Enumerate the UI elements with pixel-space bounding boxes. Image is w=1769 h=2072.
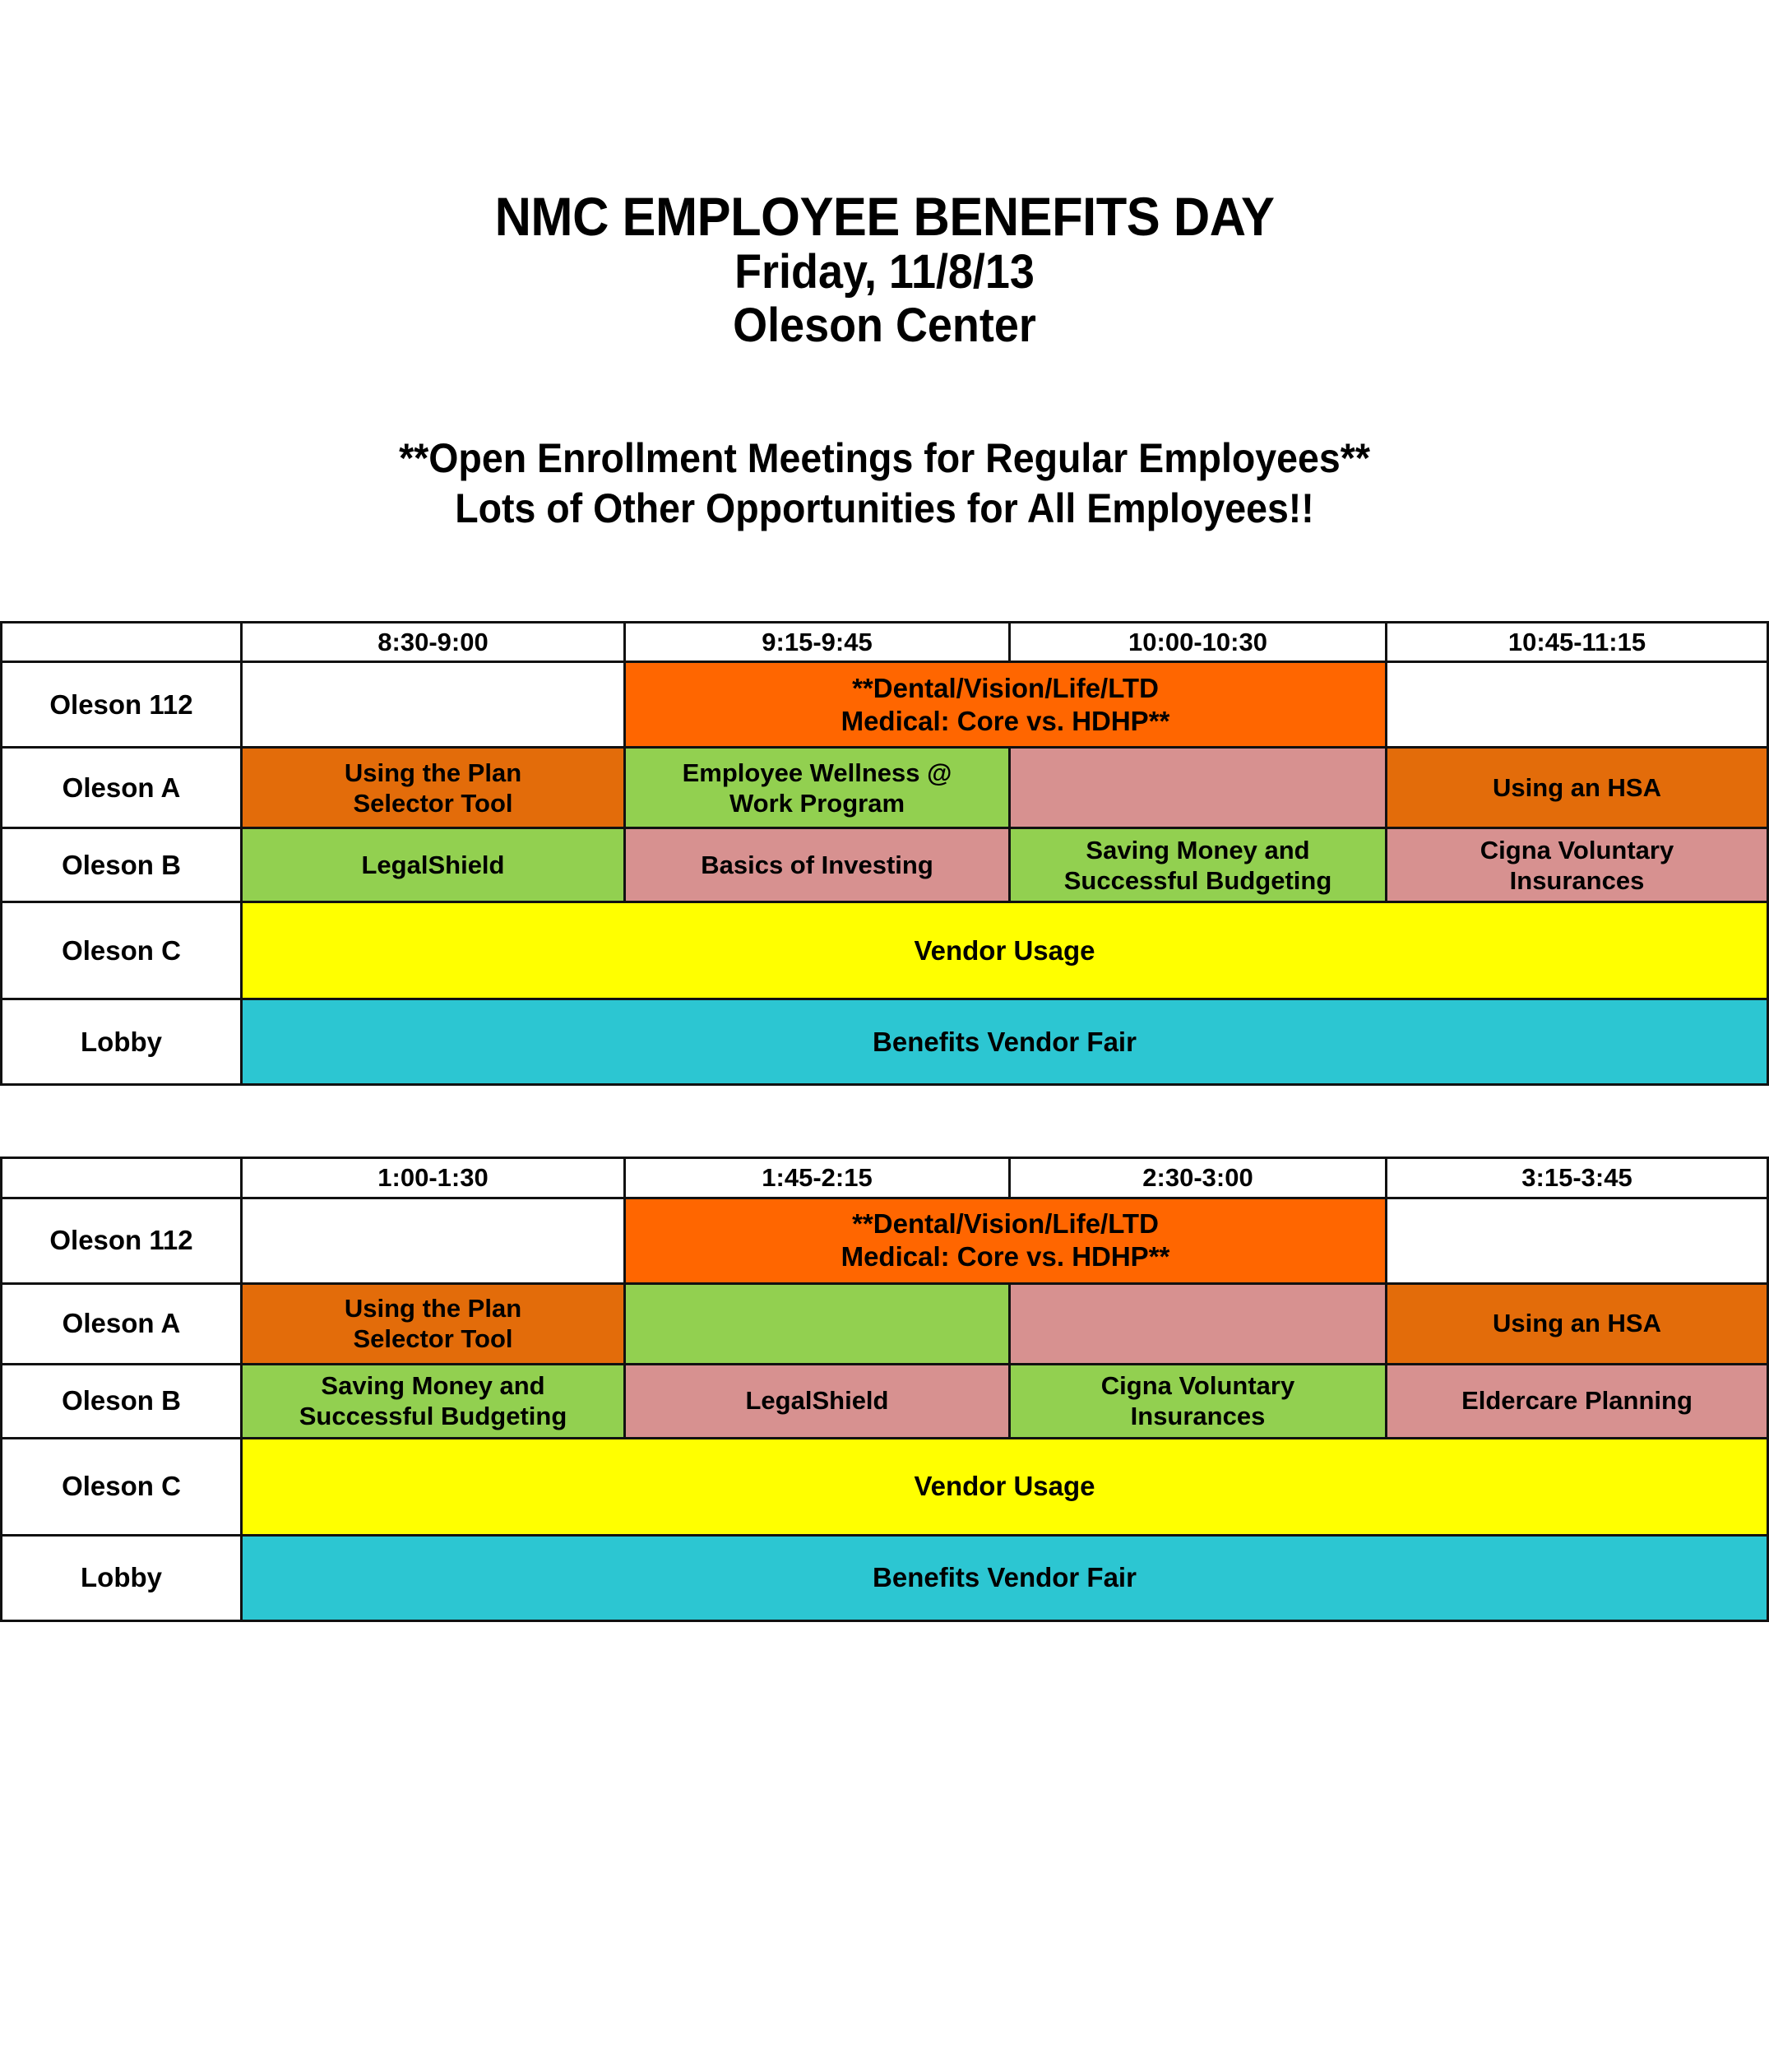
afternoon-schedule-table: 1:00-1:30 1:45-2:15 2:30-3:00 3:15-3:45 … (0, 1157, 1769, 1621)
morning-table-head: 8:30-9:00 9:15-9:45 10:00-10:30 10:45-11… (2, 623, 1768, 662)
room-label-cell: Oleson A (2, 748, 242, 828)
session-cell: Using an HSA (1387, 1283, 1768, 1364)
page-header: NMC EMPLOYEE BENEFITS DAY Friday, 11/8/1… (0, 0, 1769, 534)
table-row: Oleson CVendor Usage (2, 1438, 1768, 1535)
session-cell (242, 1198, 625, 1283)
session-cell: Vendor Usage (242, 902, 1768, 999)
room-label-cell: Oleson B (2, 828, 242, 902)
morning-header-row: 8:30-9:00 9:15-9:45 10:00-10:30 10:45-11… (2, 623, 1768, 662)
header-notes: **Open Enrollment Meetings for Regular E… (0, 433, 1769, 534)
table-row: Oleson 112**Dental/Vision/Life/LTDMedica… (2, 1198, 1768, 1283)
table-row: Oleson CVendor Usage (2, 902, 1768, 999)
room-label-cell: Oleson C (2, 1438, 242, 1535)
note-open-enrollment: **Open Enrollment Meetings for Regular E… (62, 433, 1706, 484)
session-cell: Using the PlanSelector Tool (242, 1283, 625, 1364)
table-row: Oleson BSaving Money andSuccessful Budge… (2, 1364, 1768, 1438)
afternoon-time-header-4: 3:15-3:45 (1387, 1158, 1768, 1198)
session-cell: Using the PlanSelector Tool (242, 748, 625, 828)
table-row: Oleson AUsing the PlanSelector ToolEmplo… (2, 748, 1768, 828)
room-label-cell: Lobby (2, 999, 242, 1085)
afternoon-table-head: 1:00-1:30 1:45-2:15 2:30-3:00 3:15-3:45 (2, 1158, 1768, 1198)
afternoon-header-row: 1:00-1:30 1:45-2:15 2:30-3:00 3:15-3:45 (2, 1158, 1768, 1198)
morning-table-body: Oleson 112**Dental/Vision/Life/LTDMedica… (2, 662, 1768, 1085)
session-cell (625, 1283, 1010, 1364)
session-cell: Employee Wellness @Work Program (625, 748, 1010, 828)
table-row: Oleson AUsing the PlanSelector ToolUsing… (2, 1283, 1768, 1364)
session-cell: Eldercare Planning (1387, 1364, 1768, 1438)
session-cell: LegalShield (242, 828, 625, 902)
afternoon-corner-cell (2, 1158, 242, 1198)
session-cell: Benefits Vendor Fair (242, 999, 1768, 1085)
session-cell: Vendor Usage (242, 1438, 1768, 1535)
session-cell: Cigna VoluntaryInsurances (1387, 828, 1768, 902)
afternoon-time-header-2: 1:45-2:15 (625, 1158, 1010, 1198)
session-cell (1387, 662, 1768, 748)
session-cell: Basics of Investing (625, 828, 1010, 902)
table-row: Oleson BLegalShieldBasics of InvestingSa… (2, 828, 1768, 902)
morning-schedule-table: 8:30-9:00 9:15-9:45 10:00-10:30 10:45-11… (0, 621, 1769, 1086)
session-cell: Using an HSA (1387, 748, 1768, 828)
afternoon-time-header-1: 1:00-1:30 (242, 1158, 625, 1198)
morning-time-header-3: 10:00-10:30 (1010, 623, 1387, 662)
session-cell: **Dental/Vision/Life/LTDMedical: Core vs… (625, 662, 1387, 748)
session-cell (242, 662, 625, 748)
page-venue: Oleson Center (62, 299, 1706, 353)
session-cell: LegalShield (625, 1364, 1010, 1438)
morning-corner-cell (2, 623, 242, 662)
session-cell: **Dental/Vision/Life/LTDMedical: Core vs… (625, 1198, 1387, 1283)
session-cell (1010, 748, 1387, 828)
afternoon-table-body: Oleson 112**Dental/Vision/Life/LTDMedica… (2, 1198, 1768, 1620)
morning-time-header-4: 10:45-11:15 (1387, 623, 1768, 662)
session-cell: Saving Money andSuccessful Budgeting (1010, 828, 1387, 902)
session-cell: Saving Money andSuccessful Budgeting (242, 1364, 625, 1438)
room-label-cell: Oleson C (2, 902, 242, 999)
schedule-page: NMC EMPLOYEE BENEFITS DAY Friday, 11/8/1… (0, 0, 1769, 2072)
room-label-cell: Oleson 112 (2, 1198, 242, 1283)
session-cell: Benefits Vendor Fair (242, 1535, 1768, 1620)
note-opportunities: Lots of Other Opportunities for All Empl… (62, 484, 1706, 534)
table-row: LobbyBenefits Vendor Fair (2, 1535, 1768, 1620)
session-cell (1010, 1283, 1387, 1364)
room-label-cell: Oleson 112 (2, 662, 242, 748)
room-label-cell: Lobby (2, 1535, 242, 1620)
room-label-cell: Oleson B (2, 1364, 242, 1438)
page-date: Friday, 11/8/13 (62, 246, 1706, 299)
table-row: LobbyBenefits Vendor Fair (2, 999, 1768, 1085)
table-row: Oleson 112**Dental/Vision/Life/LTDMedica… (2, 662, 1768, 748)
session-cell (1387, 1198, 1768, 1283)
afternoon-time-header-3: 2:30-3:00 (1010, 1158, 1387, 1198)
morning-time-header-2: 9:15-9:45 (625, 623, 1010, 662)
session-cell: Cigna VoluntaryInsurances (1010, 1364, 1387, 1438)
room-label-cell: Oleson A (2, 1283, 242, 1364)
page-title: NMC EMPLOYEE BENEFITS DAY (62, 188, 1706, 246)
morning-time-header-1: 8:30-9:00 (242, 623, 625, 662)
